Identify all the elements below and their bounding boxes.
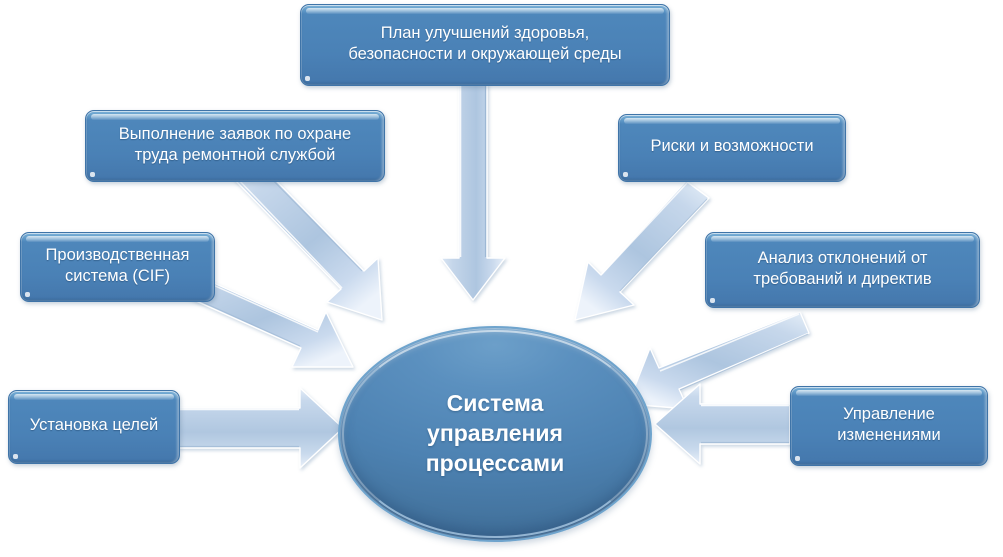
node-work-orders-label: Выполнение заявок по охранетруда ремонтн… [119, 124, 351, 166]
node-work-orders[interactable]: Выполнение заявок по охранетруда ремонтн… [85, 110, 385, 182]
node-production-system-label: Производственнаясистема (CIF) [46, 245, 190, 287]
center-node-label: Системауправленияпроцессами [426, 389, 564, 479]
arrow-hse-plan [441, 84, 505, 300]
node-change-management[interactable]: Управлениеизменениями [790, 386, 988, 466]
node-deviation-analysis-label: Анализ отклонений оттребований и директи… [753, 248, 931, 290]
diagram-canvas: План улучшений здоровья,безопасности и о… [0, 0, 1003, 557]
node-hse-plan-label: План улучшений здоровья,безопасности и о… [348, 23, 621, 65]
arrow-work-orders [233, 160, 382, 320]
node-goal-setting-label: Установка целей [30, 415, 159, 436]
node-change-management-label: Управлениеизменениями [837, 404, 940, 446]
center-node-process-management[interactable]: Системауправленияпроцессами [338, 326, 652, 542]
node-hse-plan[interactable]: План улучшений здоровья,безопасности и о… [300, 4, 670, 86]
arrow-deviation-analysis [628, 312, 809, 409]
node-risks-opportunities-label: Риски и возможности [650, 136, 813, 157]
arrow-risks-opportunities [575, 181, 709, 320]
node-production-system[interactable]: Производственнаясистема (CIF) [20, 232, 215, 302]
node-goal-setting[interactable]: Установка целей [8, 390, 180, 464]
node-deviation-analysis[interactable]: Анализ отклонений оттребований и директи… [705, 232, 980, 308]
node-risks-opportunities[interactable]: Риски и возможности [618, 114, 846, 182]
arrow-goal-setting [176, 388, 343, 468]
